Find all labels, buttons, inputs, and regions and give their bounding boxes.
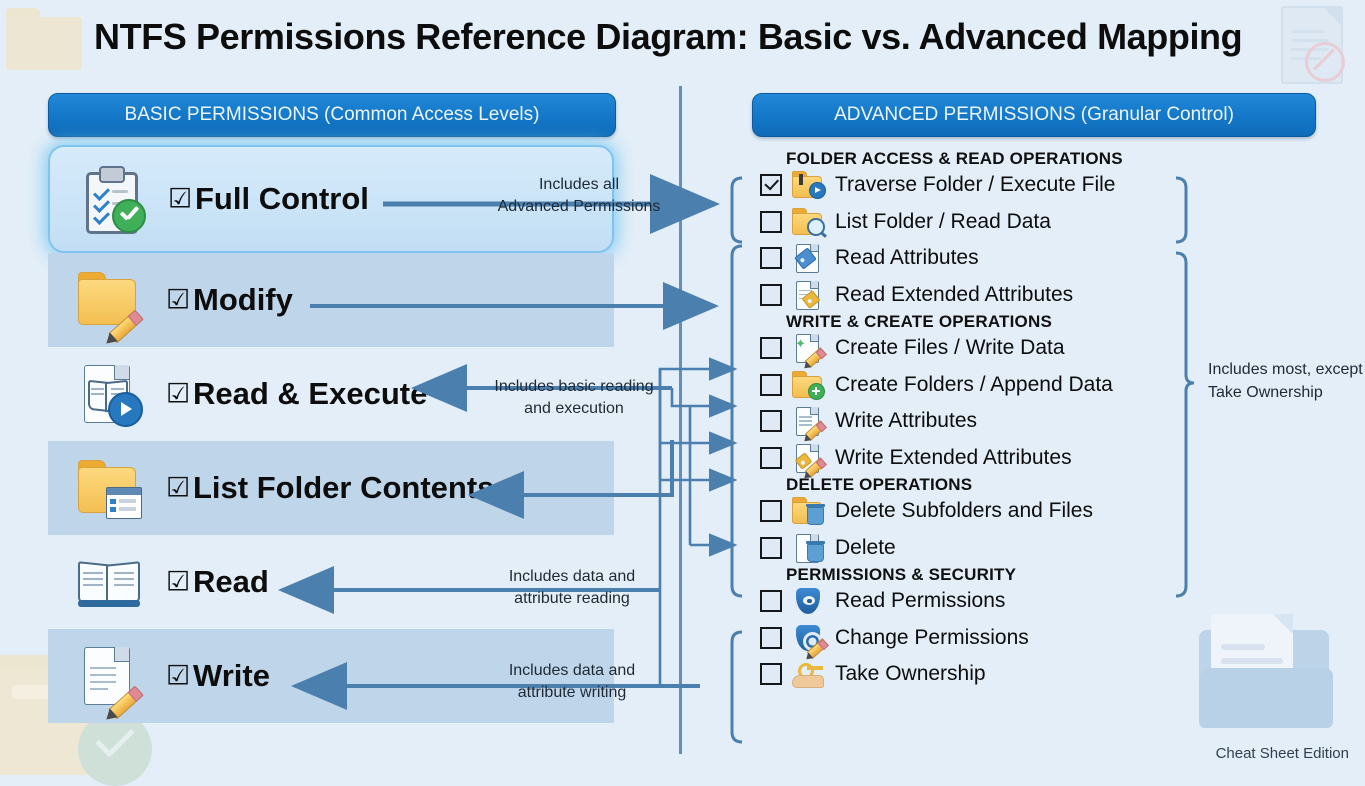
advanced-row-delete[interactable]: Delete xyxy=(752,530,1222,567)
open-book-icon xyxy=(76,549,142,615)
annotation-read-execute: Includes basic reading and execution xyxy=(484,376,664,419)
document-trash-icon xyxy=(792,533,824,563)
annotation-bracket-right: Includes most, except Take Ownership xyxy=(1208,358,1363,404)
advanced-checkbox-take-ownership[interactable] xyxy=(760,663,782,685)
basic-checkbox-modify[interactable]: ☑ xyxy=(166,287,190,314)
advanced-row-create-folders[interactable]: Create Folders / Append Data xyxy=(752,367,1222,404)
basic-row-list-folder-contents[interactable]: ☑ List Folder Contents xyxy=(48,441,614,535)
document-new-pencil-icon: ✦ xyxy=(792,333,824,363)
document-tag-icon xyxy=(792,243,824,273)
folder-pencil-icon xyxy=(76,267,142,333)
basic-label-write: Write xyxy=(193,658,270,694)
diagram-canvas: Cheat Sheet Edition NTFS Permissions Ref… xyxy=(0,0,1365,768)
basic-checkbox-read-execute[interactable]: ☑ xyxy=(166,381,190,408)
advanced-permissions-banner: ADVANCED PERMISSIONS (Granular Control) xyxy=(752,93,1316,137)
group-heading-write-create: WRITE & CREATE OPERATIONS xyxy=(752,313,1222,330)
advanced-row-read-extended-attributes[interactable]: Read Extended Attributes xyxy=(752,277,1222,314)
document-blocked-watermark-icon xyxy=(1281,6,1343,84)
advanced-row-write-extended-attributes[interactable]: Write Extended Attributes xyxy=(752,440,1222,477)
advanced-row-read-permissions[interactable]: Read Permissions xyxy=(752,583,1222,620)
advanced-label-create-folders: Create Folders / Append Data xyxy=(835,373,1113,397)
page-title: NTFS Permissions Reference Diagram: Basi… xyxy=(94,16,1242,58)
key-hand-icon xyxy=(792,659,824,689)
folder-search-icon xyxy=(792,207,824,237)
advanced-checkbox-delete-subfolders[interactable] xyxy=(760,500,782,522)
basic-checkbox-list-folder-contents[interactable]: ☑ xyxy=(166,475,190,502)
advanced-checkbox-write-attributes[interactable] xyxy=(760,410,782,432)
advanced-checkbox-change-permissions[interactable] xyxy=(760,627,782,649)
basic-row-modify[interactable]: ☑ Modify xyxy=(48,253,614,347)
advanced-label-traverse-folder: Traverse Folder / Execute File xyxy=(835,173,1116,197)
advanced-checkbox-read-extended-attributes[interactable] xyxy=(760,284,782,306)
advanced-label-read-permissions: Read Permissions xyxy=(835,589,1005,613)
advanced-label-read-extended-attributes: Read Extended Attributes xyxy=(835,283,1073,307)
advanced-checkbox-list-folder[interactable] xyxy=(760,211,782,233)
advanced-checkbox-create-folders[interactable] xyxy=(760,374,782,396)
shield-eye-icon xyxy=(792,586,824,616)
basic-label-modify: Modify xyxy=(193,282,293,318)
group-heading-permissions-security: PERMISSIONS & SECURITY xyxy=(752,566,1222,583)
basic-label-read-execute: Read & Execute xyxy=(193,376,427,412)
advanced-label-delete-subfolders: Delete Subfolders and Files xyxy=(835,499,1093,523)
basic-label-list-folder-contents: List Folder Contents xyxy=(193,470,494,506)
document-pencil-icon xyxy=(76,643,142,709)
advanced-checkbox-traverse-folder[interactable] xyxy=(760,174,782,196)
shield-gear-pencil-icon xyxy=(792,623,824,653)
annotation-write: Includes data and attribute writing xyxy=(487,660,657,703)
advanced-label-change-permissions: Change Permissions xyxy=(835,626,1029,650)
clipboard-check-icon xyxy=(78,166,144,232)
advanced-row-change-permissions[interactable]: Change Permissions xyxy=(752,620,1222,657)
basic-permissions-list: ☑ Full Control ☑ Modify xyxy=(48,150,614,723)
folder-plus-icon xyxy=(792,370,824,400)
folder-watermark-topleft-icon xyxy=(6,8,82,70)
advanced-row-read-attributes[interactable]: Read Attributes xyxy=(752,240,1222,277)
basic-checkbox-write[interactable]: ☑ xyxy=(166,663,190,690)
advanced-label-create-files: Create Files / Write Data xyxy=(835,336,1065,360)
advanced-label-delete: Delete xyxy=(835,536,896,560)
advanced-checkbox-create-files[interactable] xyxy=(760,337,782,359)
folder-person-play-icon xyxy=(792,170,824,200)
annotation-full-control: Includes all Advanced Permissions xyxy=(494,174,664,217)
document-lines-pencil-icon xyxy=(792,406,824,436)
basic-checkbox-full-control[interactable]: ☑ xyxy=(168,186,192,213)
advanced-row-create-files[interactable]: ✦ Create Files / Write Data xyxy=(752,330,1222,367)
advanced-row-take-ownership[interactable]: Take Ownership xyxy=(752,656,1222,693)
document-lines-tag-icon xyxy=(792,280,824,310)
group-heading-folder-access: FOLDER ACCESS & READ OPERATIONS xyxy=(752,150,1222,167)
advanced-checkbox-read-permissions[interactable] xyxy=(760,590,782,612)
cheat-sheet-caption: Cheat Sheet Edition xyxy=(1216,745,1349,762)
folder-trash-icon xyxy=(792,496,824,526)
annotation-read: Includes data and attribute reading xyxy=(487,566,657,609)
document-tag-pencil-icon xyxy=(792,443,824,473)
advanced-row-traverse-folder[interactable]: Traverse Folder / Execute File xyxy=(752,167,1222,204)
basic-label-read: Read xyxy=(193,564,269,600)
advanced-checkbox-write-extended-attributes[interactable] xyxy=(760,447,782,469)
basic-label-full-control: Full Control xyxy=(195,181,369,217)
advanced-label-write-attributes: Write Attributes xyxy=(835,409,977,433)
center-divider xyxy=(679,86,682,754)
folder-list-icon xyxy=(76,455,142,521)
check-watermark-bottomleft-icon xyxy=(78,712,152,786)
document-book-play-icon xyxy=(76,361,142,427)
group-heading-delete: DELETE OPERATIONS xyxy=(752,476,1222,493)
basic-permissions-banner: BASIC PERMISSIONS (Common Access Levels) xyxy=(48,93,616,137)
advanced-checkbox-delete[interactable] xyxy=(760,537,782,559)
advanced-checkbox-read-attributes[interactable] xyxy=(760,247,782,269)
advanced-label-write-extended-attributes: Write Extended Attributes xyxy=(835,446,1072,470)
advanced-row-write-attributes[interactable]: Write Attributes xyxy=(752,403,1222,440)
advanced-label-read-attributes: Read Attributes xyxy=(835,246,979,270)
advanced-label-take-ownership: Take Ownership xyxy=(835,662,986,686)
basic-checkbox-read[interactable]: ☑ xyxy=(166,569,190,596)
advanced-permissions-list: FOLDER ACCESS & READ OPERATIONS Traverse… xyxy=(752,150,1222,693)
advanced-label-list-folder: List Folder / Read Data xyxy=(835,210,1051,234)
advanced-row-delete-subfolders[interactable]: Delete Subfolders and Files xyxy=(752,493,1222,530)
advanced-row-list-folder[interactable]: List Folder / Read Data xyxy=(752,204,1222,241)
